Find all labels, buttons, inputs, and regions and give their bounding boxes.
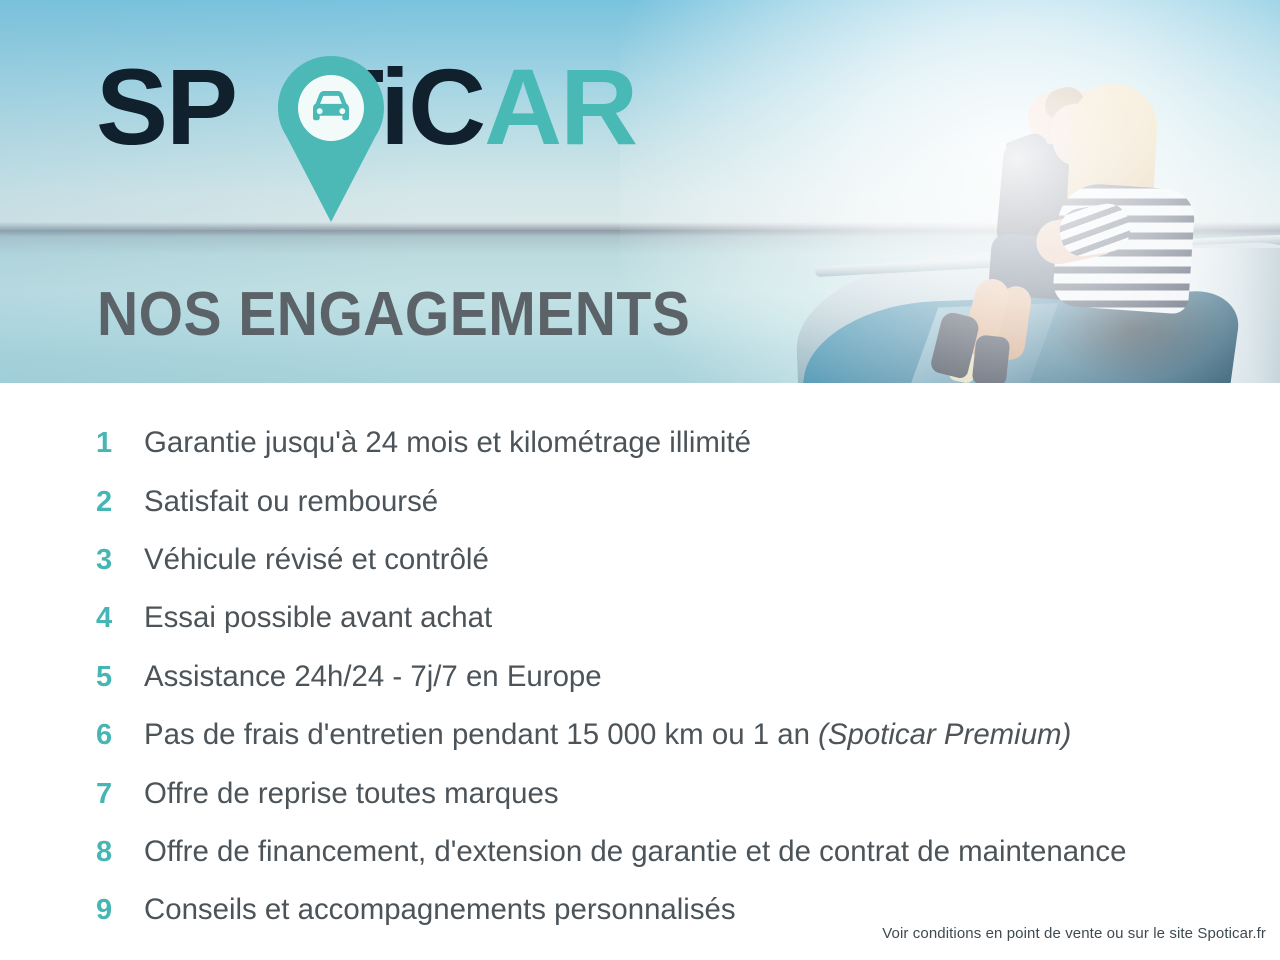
list-item-number: 7 — [96, 779, 130, 809]
list-item-text: Véhicule révisé et contrôlé — [144, 544, 489, 576]
list-item: 8 Offre de financement, d'extension de g… — [0, 823, 1280, 881]
spoticar-logo: SPOTiCAR — [96, 52, 756, 232]
map-pin-car-icon — [272, 54, 390, 224]
list-item-text-italic: (Spoticar Premium) — [818, 718, 1071, 751]
list-item-text: Pas de frais d'entretien pendant 15 000 … — [144, 719, 1071, 751]
list-item-number: 5 — [96, 662, 130, 692]
logo-text-ar: AR — [484, 46, 636, 167]
list-item-number: 3 — [96, 545, 130, 575]
list-item-text-main: Offre de financement, d'extension de gar… — [144, 835, 1126, 868]
list-item: 5 Assistance 24h/24 - 7j/7 en Europe — [0, 648, 1280, 706]
list-item-text: Conseils et accompagnements personnalisé… — [144, 894, 736, 926]
commitments-list: 1 Garantie jusqu'à 24 mois et kilométrag… — [0, 414, 1280, 940]
list-item-text: Offre de financement, d'extension de gar… — [144, 836, 1126, 868]
list-item-number: 1 — [96, 428, 130, 458]
list-item-text-main: Offre de reprise toutes marques — [144, 777, 559, 810]
list-item-number: 9 — [96, 895, 130, 925]
list-item-text-main: Véhicule révisé et contrôlé — [144, 543, 489, 576]
list-item: 4 Essai possible avant achat — [0, 589, 1280, 647]
list-item: 2 Satisfait ou remboursé — [0, 472, 1280, 530]
list-item: 1 Garantie jusqu'à 24 mois et kilométrag… — [0, 414, 1280, 472]
list-item: 7 Offre de reprise toutes marques — [0, 764, 1280, 822]
list-item-text-main: Conseils et accompagnements personnalisé… — [144, 893, 736, 926]
list-item-number: 6 — [96, 720, 130, 750]
list-item-number: 8 — [96, 837, 130, 867]
list-item-text-main: Pas de frais d'entretien pendant 15 000 … — [144, 718, 818, 751]
list-item: 3 Véhicule révisé et contrôlé — [0, 531, 1280, 589]
list-item-text: Essai possible avant achat — [144, 602, 492, 634]
list-item-text-main: Essai possible avant achat — [144, 601, 492, 634]
logo-text-sp: SP — [96, 46, 236, 167]
list-item-text: Satisfait ou remboursé — [144, 486, 438, 518]
spoticar-commitments-poster: SPOTiCAR NOS ENGAGEMENTS 1 Garantie jusq… — [0, 0, 1280, 960]
list-item-text: Garantie jusqu'à 24 mois et kilométrage … — [144, 427, 751, 459]
list-item-number: 4 — [96, 603, 130, 633]
list-item-text-main: Assistance 24h/24 - 7j/7 en Europe — [144, 660, 602, 693]
list-item-text: Offre de reprise toutes marques — [144, 778, 559, 810]
list-item-text: Assistance 24h/24 - 7j/7 en Europe — [144, 661, 602, 693]
legal-disclaimer: Voir conditions en point de vente ou sur… — [882, 925, 1266, 942]
list-item: 6 Pas de frais d'entretien pendant 15 00… — [0, 706, 1280, 764]
list-item-number: 2 — [96, 487, 130, 517]
page-title: NOS ENGAGEMENTS — [97, 283, 690, 347]
list-item-text-main: Satisfait ou remboursé — [144, 485, 438, 518]
list-item-text-main: Garantie jusqu'à 24 mois et kilométrage … — [144, 426, 751, 459]
hero-banner: SPOTiCAR NOS ENGAGEMENTS — [0, 0, 1280, 383]
